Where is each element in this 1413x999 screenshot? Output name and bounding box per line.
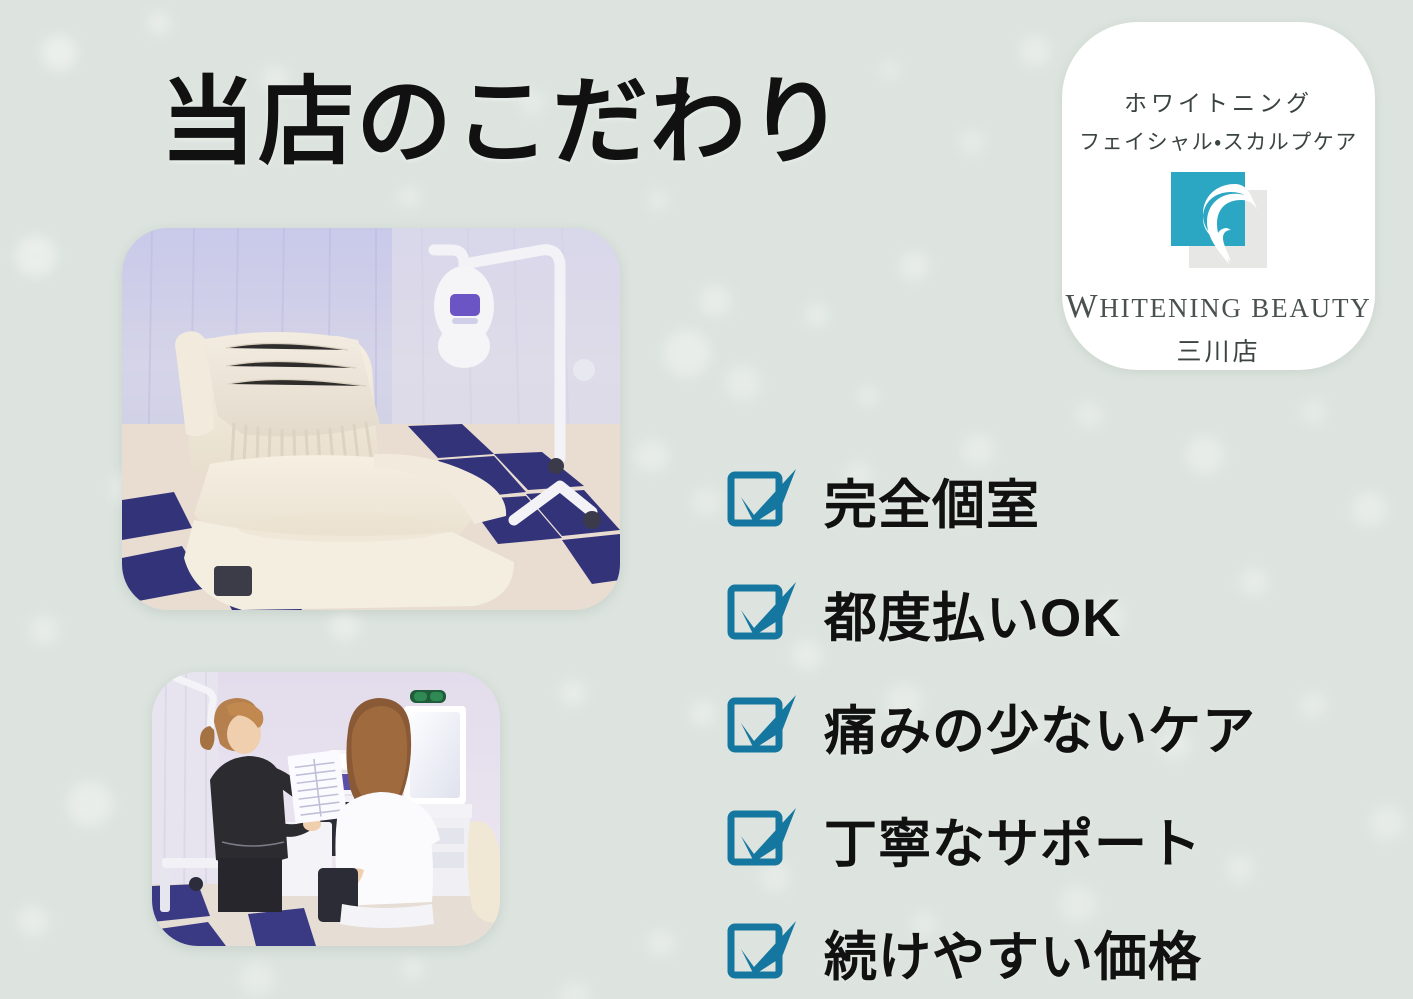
- bokeh-dot: [700, 286, 730, 316]
- bokeh-dot: [664, 330, 710, 376]
- bokeh-dot: [240, 962, 274, 996]
- checkbox-checked-icon: [726, 806, 798, 874]
- bokeh-dot: [42, 36, 76, 70]
- bokeh-dot: [560, 680, 586, 706]
- logo-tagline-secondary: フェイシャル・スカルプケア: [1079, 126, 1358, 156]
- bokeh-dot: [68, 782, 112, 826]
- bokeh-dot: [858, 386, 878, 406]
- checklist-item-label: 都度払いOK: [824, 576, 1122, 652]
- bokeh-dot: [726, 366, 760, 400]
- bokeh-dot: [900, 252, 928, 280]
- bokeh-dot: [692, 488, 720, 516]
- checklist-item: 続けやすい価格: [726, 896, 1256, 999]
- bokeh-dot: [690, 700, 716, 726]
- checkbox-checked-icon: [726, 580, 798, 648]
- checkbox-checked-icon: [726, 467, 798, 535]
- bokeh-dot: [1300, 692, 1326, 718]
- bokeh-dot: [1352, 492, 1386, 526]
- features-checklist: 完全個室 都度払いOK 痛みの少ないケア: [726, 444, 1256, 999]
- bokeh-dot: [1370, 806, 1404, 840]
- checklist-item: 完全個室: [726, 444, 1256, 557]
- checklist-item-label: 続けやすい価格: [824, 915, 1202, 991]
- brand-logo-card: ホワイトニング フェイシャル・スカルプケア WHITENING BEAUTY 三…: [1062, 22, 1375, 370]
- bokeh-dot: [1020, 36, 1050, 66]
- logo-tagline-primary: ホワイトニング: [1124, 84, 1313, 118]
- checklist-item-label: 痛みの少ないケア: [824, 689, 1256, 765]
- checklist-item-label: 丁寧なサポート: [824, 802, 1202, 878]
- poster-canvas: 当店のこだわり ホワイトニング フェイシャル・スカルプケア WHITENING …: [0, 0, 1413, 999]
- bokeh-dot: [960, 130, 984, 154]
- page-title: 当店のこだわり: [160, 68, 846, 178]
- checklist-item: 痛みの少ないケア: [726, 670, 1256, 783]
- checkbox-checked-icon: [726, 919, 798, 987]
- bokeh-dot: [398, 186, 420, 208]
- bokeh-dot: [1302, 400, 1326, 424]
- bokeh-dot: [402, 958, 424, 980]
- bokeh-dot: [648, 930, 674, 956]
- checkbox-checked-icon: [726, 693, 798, 761]
- bokeh-dot: [30, 616, 58, 644]
- counseling-staff-client-photo: [152, 672, 500, 946]
- bokeh-dot: [330, 610, 360, 640]
- checklist-item: 都度払いOK: [726, 557, 1256, 670]
- bokeh-dot: [636, 440, 668, 472]
- bokeh-dot: [16, 236, 56, 276]
- bokeh-dot: [148, 12, 170, 34]
- brand-initial: W: [1065, 288, 1099, 325]
- treatment-room-chair-photo: [122, 228, 620, 610]
- checklist-item: 丁寧なサポート: [726, 783, 1256, 896]
- bokeh-dot: [18, 906, 48, 936]
- branch-name: 三川店: [1176, 332, 1260, 368]
- bokeh-dot: [880, 60, 900, 80]
- bokeh-dot: [560, 982, 590, 999]
- brand-name-rest: HITENING BEAUTY: [1099, 293, 1371, 323]
- bokeh-dot: [648, 190, 668, 210]
- checklist-item-label: 完全個室: [824, 463, 1040, 539]
- tooth-swirl-logo-icon: [1171, 172, 1267, 268]
- bokeh-dot: [1076, 402, 1102, 428]
- brand-name: WHITENING BEAUTY: [1065, 288, 1371, 326]
- bokeh-dot: [806, 304, 828, 326]
